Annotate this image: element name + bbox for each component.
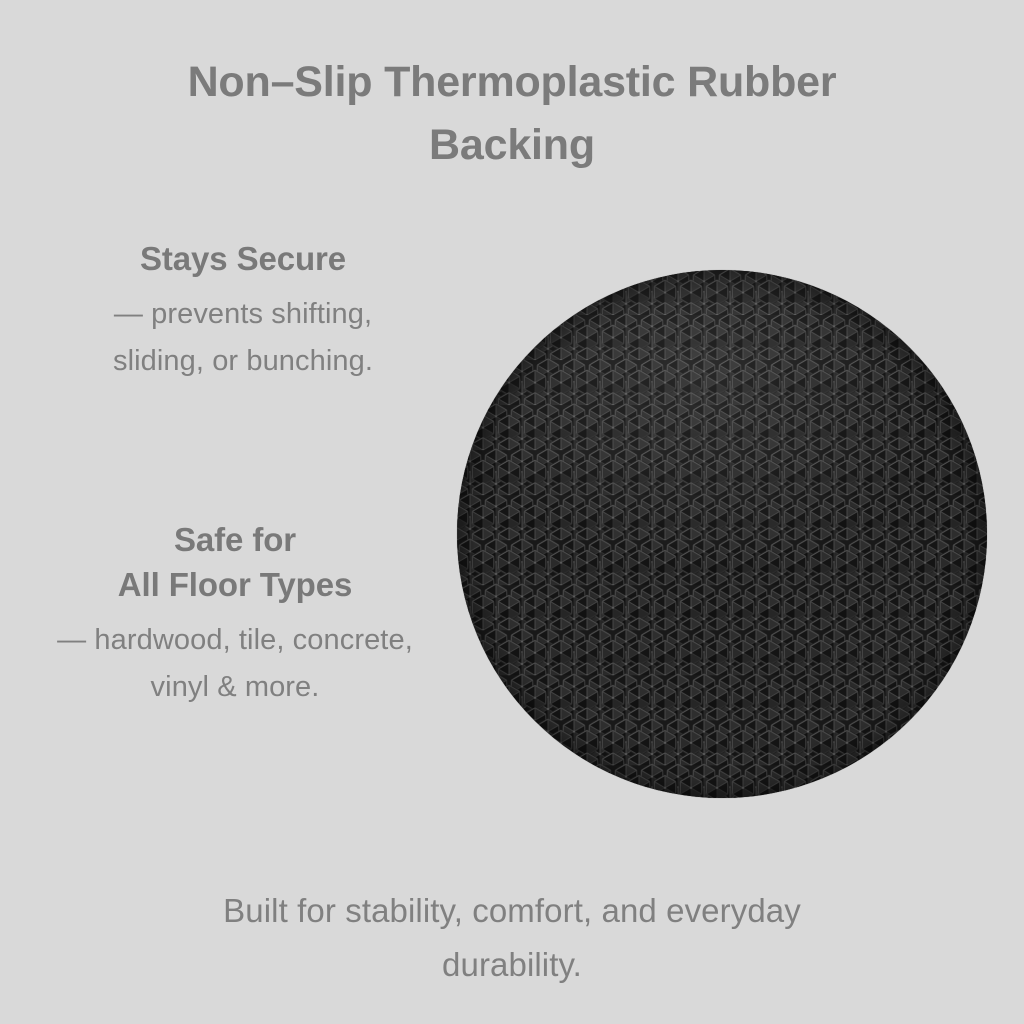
tread-texture-icon <box>457 270 987 798</box>
page-caption: Built for stability, comfort, and everyd… <box>52 884 972 992</box>
feature-body: — prevents shifting, sliding, or bunchin… <box>18 291 468 386</box>
product-image <box>457 270 987 798</box>
rubber-disc <box>457 270 987 798</box>
page-title: Non–Slip Thermoplastic Rubber Backing <box>0 51 1024 178</box>
product-feature-graphic: Non–Slip Thermoplastic Rubber Backing St… <box>0 0 1024 1024</box>
feature-block-safe-for-all-floor-types: Safe for All Floor Types — hardwood, til… <box>0 518 480 711</box>
feature-body: — hardwood, tile, concrete, vinyl & more… <box>0 617 480 712</box>
feature-heading: Stays Secure <box>18 237 468 282</box>
feature-heading: Safe for All Floor Types <box>0 518 480 608</box>
feature-block-stays-secure: Stays Secure — prevents shifting, slidin… <box>18 237 468 385</box>
